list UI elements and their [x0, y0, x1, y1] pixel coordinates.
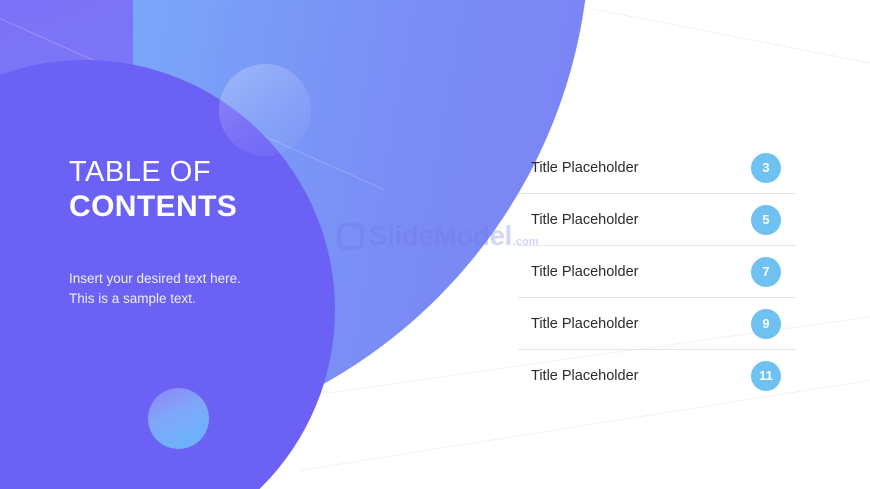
toc-row[interactable]: Title Placeholder 11 — [518, 350, 796, 401]
toc-item-label: Title Placeholder — [518, 160, 638, 176]
toc-item-label: Title Placeholder — [518, 316, 638, 332]
small-blue-circle — [148, 388, 209, 449]
page-title-line-2: CONTENTS — [69, 189, 349, 224]
toc-item-number-badge[interactable]: 11 — [751, 361, 781, 391]
toc-item-number-badge[interactable]: 3 — [751, 153, 781, 183]
subtitle-line-2: This is a sample text. — [69, 289, 349, 310]
toc-row[interactable]: Title Placeholder 7 — [518, 246, 796, 298]
toc-item-label: Title Placeholder — [518, 212, 638, 228]
slide-canvas: SlideModel .com TABLE OF CONTENTS Insert… — [0, 0, 870, 489]
subtitle-line-1: Insert your desired text here. — [69, 269, 349, 290]
diagonal-guide-line-upper-right — [590, 8, 870, 72]
toc-item-number-badge[interactable]: 9 — [751, 309, 781, 339]
toc-item-label: Title Placeholder — [518, 368, 638, 384]
toc-row[interactable]: Title Placeholder 5 — [518, 194, 796, 246]
toc-item-number-badge[interactable]: 5 — [751, 205, 781, 235]
page-title-line-1: TABLE OF — [69, 155, 349, 189]
toc-row[interactable]: Title Placeholder 3 — [518, 142, 796, 194]
table-of-contents-list: Title Placeholder 3 Title Placeholder 5 … — [518, 142, 796, 401]
subtitle-text: Insert your desired text here. This is a… — [69, 269, 349, 310]
toc-row[interactable]: Title Placeholder 9 — [518, 298, 796, 350]
translucent-overlap-circle — [219, 64, 311, 156]
toc-item-number-badge[interactable]: 7 — [751, 257, 781, 287]
toc-item-label: Title Placeholder — [518, 264, 638, 280]
title-block: TABLE OF CONTENTS Insert your desired te… — [69, 155, 349, 310]
